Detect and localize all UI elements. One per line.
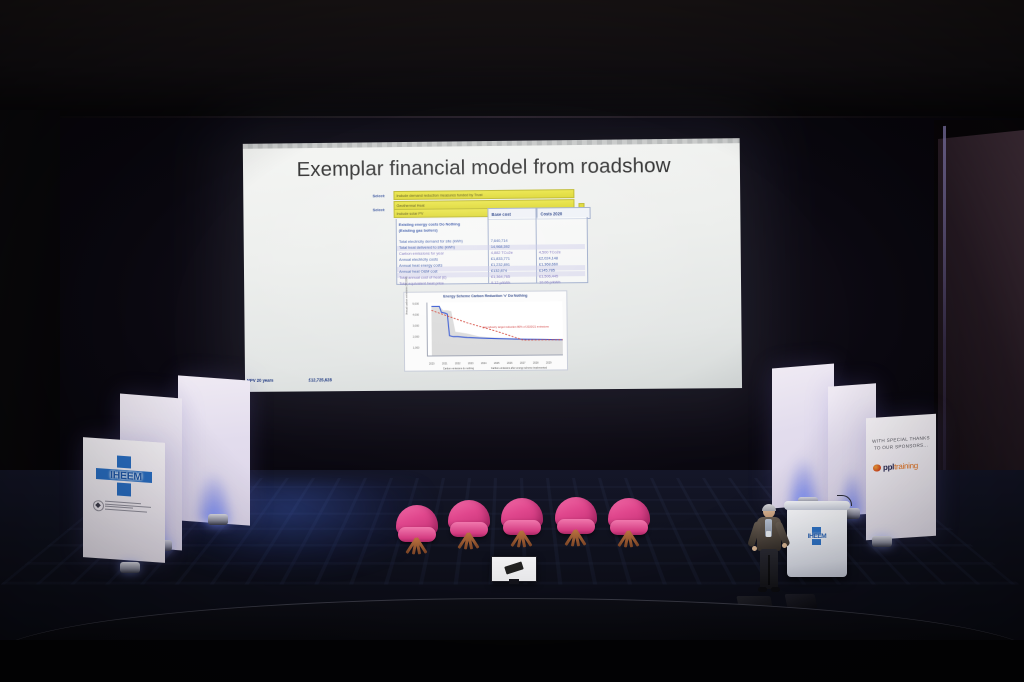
ppl-light: training — [894, 461, 918, 472]
select-label-1: Select: — [373, 193, 390, 198]
banner-left-rear — [178, 375, 250, 525]
chart-xtick: 2029 — [546, 362, 552, 365]
chart-xtick: 2022 — [455, 362, 461, 365]
lectern-iheem-logo: IHEEM — [798, 527, 836, 553]
chart-ytick: 2,000 — [413, 336, 420, 339]
chart-xtick: 2028 — [533, 362, 539, 365]
table-cell-base: £132,874 — [491, 269, 507, 273]
table-cell-2020: £1,506,445 — [539, 274, 558, 278]
select-value-1[interactable]: Include demand reduction measures funded… — [393, 189, 574, 200]
table-section-title-1: Existing energy costs Do Nothing — [399, 222, 460, 227]
table-row: Total heat delivered to site (kWh) — [399, 245, 455, 250]
ppl-training-logo: ppltraining — [873, 460, 931, 473]
chart-xtick: 2023 — [468, 362, 474, 365]
confidence-monitor-stand — [509, 579, 519, 584]
chart-ytick: 4,000 — [413, 314, 420, 317]
uplight-fixture — [208, 514, 228, 525]
table-cell-base: £1,364,765 — [491, 275, 510, 279]
select-label-2: Select: — [373, 207, 390, 212]
table-cell-2020: £2,024,148 — [539, 256, 558, 260]
table-cell-base: 9.12 p/kWh — [491, 281, 510, 285]
projected-slide: Exemplar financial model from roadshow S… — [243, 143, 742, 392]
table-row: Annual heat O&M cost — [399, 270, 437, 274]
table-cell-2020: 10.06 p/kWh — [539, 280, 560, 284]
table-cell-base: 4,882 TCo2e — [491, 251, 513, 255]
presenter-badge — [766, 531, 771, 537]
iheem-logo: IHEEM — [95, 454, 153, 498]
uplight-glow — [783, 418, 823, 508]
conference-stage-photo: Exemplar financial model from roadshow S… — [0, 0, 1024, 682]
npv-label: NPV 20 years — [247, 378, 273, 383]
table-row: Annual heat energy costs — [399, 263, 442, 267]
chart-annotation: gas industry target reduction 80% of 202… — [483, 326, 549, 330]
table-cell-base: 14,968,392 — [491, 245, 510, 249]
partner-diamond-icon — [93, 500, 102, 510]
chart-ytick: 5,000 — [412, 303, 419, 306]
banner-iheem: IHEEM — [83, 437, 165, 563]
chair-2 — [446, 500, 492, 552]
uplight-fixture — [120, 562, 140, 573]
chair-3 — [499, 498, 545, 550]
chart-legend-1: Carbon emissions do nothing — [443, 367, 474, 370]
auditorium-floor — [0, 640, 1024, 682]
ppl-bold: ppl — [883, 462, 894, 472]
iheem-wordmark: IHEEM — [99, 468, 153, 484]
lectern-brand-text: IHEEM — [798, 533, 836, 540]
table-cell-base: £1,833,771 — [491, 257, 510, 261]
presenter — [752, 505, 786, 595]
chart-ytick: 1,000 — [413, 347, 420, 350]
chart-xtick: 2021 — [442, 362, 448, 365]
table-cell-2020: £145,785 — [539, 268, 555, 272]
chart-xtick: 2026 — [507, 362, 513, 365]
banner-right-rear — [772, 364, 834, 509]
chart-legend-2: Carbon emissions after energy scheme imp… — [491, 366, 547, 369]
table-cell-base: £1,232,891 — [491, 263, 510, 267]
projection-screen: Exemplar financial model from roadshow S… — [243, 143, 742, 392]
chart-xtick: 2020 — [429, 362, 435, 365]
slide-title: Exemplar financial model from roadshow — [297, 154, 671, 182]
embedded-carbon-chart: Energy Scheme Carbon Reduction 'v' Do No… — [403, 290, 568, 371]
uplight-glow — [191, 431, 237, 524]
partner-mark — [93, 500, 157, 515]
presenter-hair — [762, 504, 776, 511]
ppl-wordmark: ppltraining — [883, 461, 918, 472]
presenter-hand-left — [752, 546, 757, 551]
chart-xtick: 2024 — [481, 362, 487, 365]
table-cell-2020: 4,500 TCo2e — [539, 250, 561, 254]
table-cell-2020: £1,368,660 — [539, 262, 558, 266]
presenter-shoe — [758, 587, 767, 592]
table-row: Annual electricity costs — [399, 258, 438, 262]
table-section-title-2: (Existing gas boilers) — [399, 229, 438, 233]
chart-y-axis-label: Annual carbon emissions (TCO2e) — [405, 276, 408, 314]
npv-value: £12,725,628 — [309, 377, 332, 382]
ceiling-band — [0, 0, 1024, 118]
chair-4 — [553, 497, 599, 549]
lectern-podium: IHEEM — [787, 505, 847, 577]
table-cell-base: 7,640,714 — [491, 239, 508, 243]
banner-sponsors: WITH SPECIAL THANKS TO OUR SPONSORS... p… — [866, 414, 936, 540]
presenter-hand-right — [782, 543, 787, 548]
stage-wedge-monitor — [785, 594, 818, 608]
table-row: Total electricity demand for site (kWh) — [399, 239, 463, 244]
chart-xtick: 2027 — [520, 362, 526, 365]
presenter-trousers — [760, 549, 778, 589]
presenter-shoe — [771, 587, 780, 592]
partner-text-lines — [105, 501, 157, 515]
uplight-fixture — [872, 536, 892, 547]
chair-1 — [394, 505, 440, 557]
ppl-dot-icon — [873, 464, 881, 472]
chair-5 — [606, 498, 652, 550]
financial-model-table: Base cost Costs 2020 Existing energy cos… — [396, 207, 587, 284]
table-row: Carbon emissions for year — [399, 251, 444, 255]
chart-xtick: 2025 — [494, 362, 500, 365]
chart-ytick: 3,000 — [413, 325, 420, 328]
chart-title: Energy Scheme Carbon Reduction 'v' Do No… — [404, 293, 566, 298]
